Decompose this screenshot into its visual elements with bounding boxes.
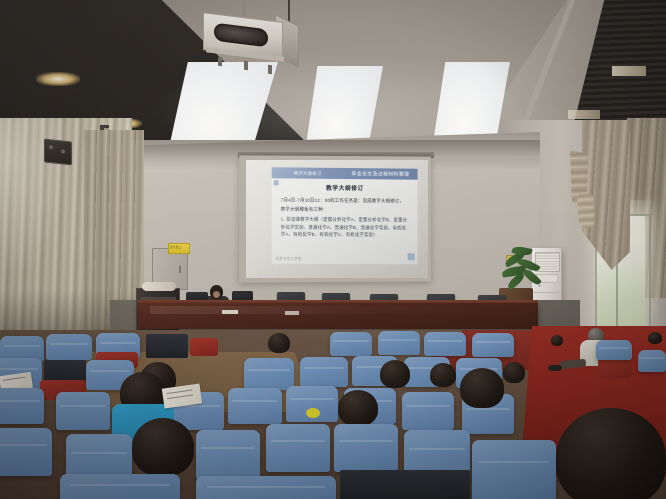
chair-c4 [228,388,282,424]
desk-document-1 [222,310,238,314]
slide-accent-square-right [408,253,415,260]
chair-d5 [334,424,398,472]
audience-head-a2 [551,335,563,346]
audience-head-c2 [338,390,378,426]
chair-c1 [0,388,44,424]
aisle-chair-back [596,340,632,360]
cabinet-handle [179,266,181,273]
slide-footer: 化学与化工学院 [276,256,302,261]
chair-foreground-left [60,474,180,499]
projector-bolt-3 [268,65,272,74]
head-table-reflection [150,306,510,314]
slide-header-left-text: 教学大纲修订 [294,170,322,176]
chair-a7 [378,331,420,355]
chair-d4 [266,424,330,472]
foreground-head-right [556,408,666,499]
audience-head-b4 [503,362,525,383]
projector-mount-rod [242,0,246,16]
ceiling-strip-light-right-2 [568,110,600,119]
slide-title: 教学大纲修订 [281,183,409,192]
lecture-hall-photo: 教学大纲修订 毕业论文及过程材料整理 教学大纲修订 7月4日-7月10日12：0… [0,0,666,499]
audience-head-d1 [132,418,194,476]
slide-header-bar: 教学大纲修订 毕业论文及过程材料整理 [272,167,418,179]
chair-c2 [56,392,110,430]
chair-foreground-dark [340,470,470,499]
chair-foreground [472,440,556,499]
chair-foreground-center [196,476,336,499]
slide-line-1: 7月4日-7月10日12：00的工作任务是：完成教学大纲修订， [281,196,409,204]
slide-body: 教学大纲修订 7月4日-7月10日12：00的工作任务是：完成教学大纲修订， 教… [281,183,409,238]
chair-c7 [402,392,454,430]
slide-header-right-text: 毕业论文及过程材料整理 [352,170,410,178]
aisle-person-shoe [548,365,562,371]
presenter-face [213,291,220,298]
yellow-item [306,408,320,418]
chair-b5 [300,357,348,387]
exit-sign-text: 安全出口 [170,246,181,249]
chair-d1 [0,428,52,476]
audience-head-a1 [268,333,290,353]
projector-bolt-2 [244,61,248,70]
projector-bolt-1 [218,57,222,66]
chair-a9 [472,333,514,357]
aisle-chair-back-2 [638,350,666,372]
chair-a6 [330,332,372,356]
audience-head-b2 [380,360,410,388]
ceiling-strip-light-right-1 [612,66,646,76]
bag-on-rack [142,282,176,291]
chair-a8 [424,332,466,356]
slide-accent-square-left [274,180,279,185]
chair-d3 [196,430,260,480]
presentation-slide: 教学大纲修订 毕业论文及过程材料整理 教学大纲修订 7月4日-7月10日12：0… [272,167,418,264]
seat-a5-base [190,338,218,356]
desk-document-2 [285,311,299,315]
chair-a4-dark [146,334,188,358]
potted-plant [502,245,548,297]
chair-b4 [244,358,294,390]
audience-head-b3 [430,363,456,387]
exit-sign: 安全出口 [168,243,190,254]
ceiling-downlight-1 [36,72,80,86]
chair-a2 [46,334,92,360]
foreground-head-mid [460,368,504,408]
slide-paragraph: 1. 验证课教学大纲（定量分析化学A、定量分析化学B、定量分析化学实验、普通化学… [281,216,409,238]
audience-head-far-right [648,332,662,344]
right-curtain-tieback [577,191,595,228]
wall-speaker-icon [44,139,72,166]
slide-line-2: 教学大纲模板有三种： [281,205,409,213]
